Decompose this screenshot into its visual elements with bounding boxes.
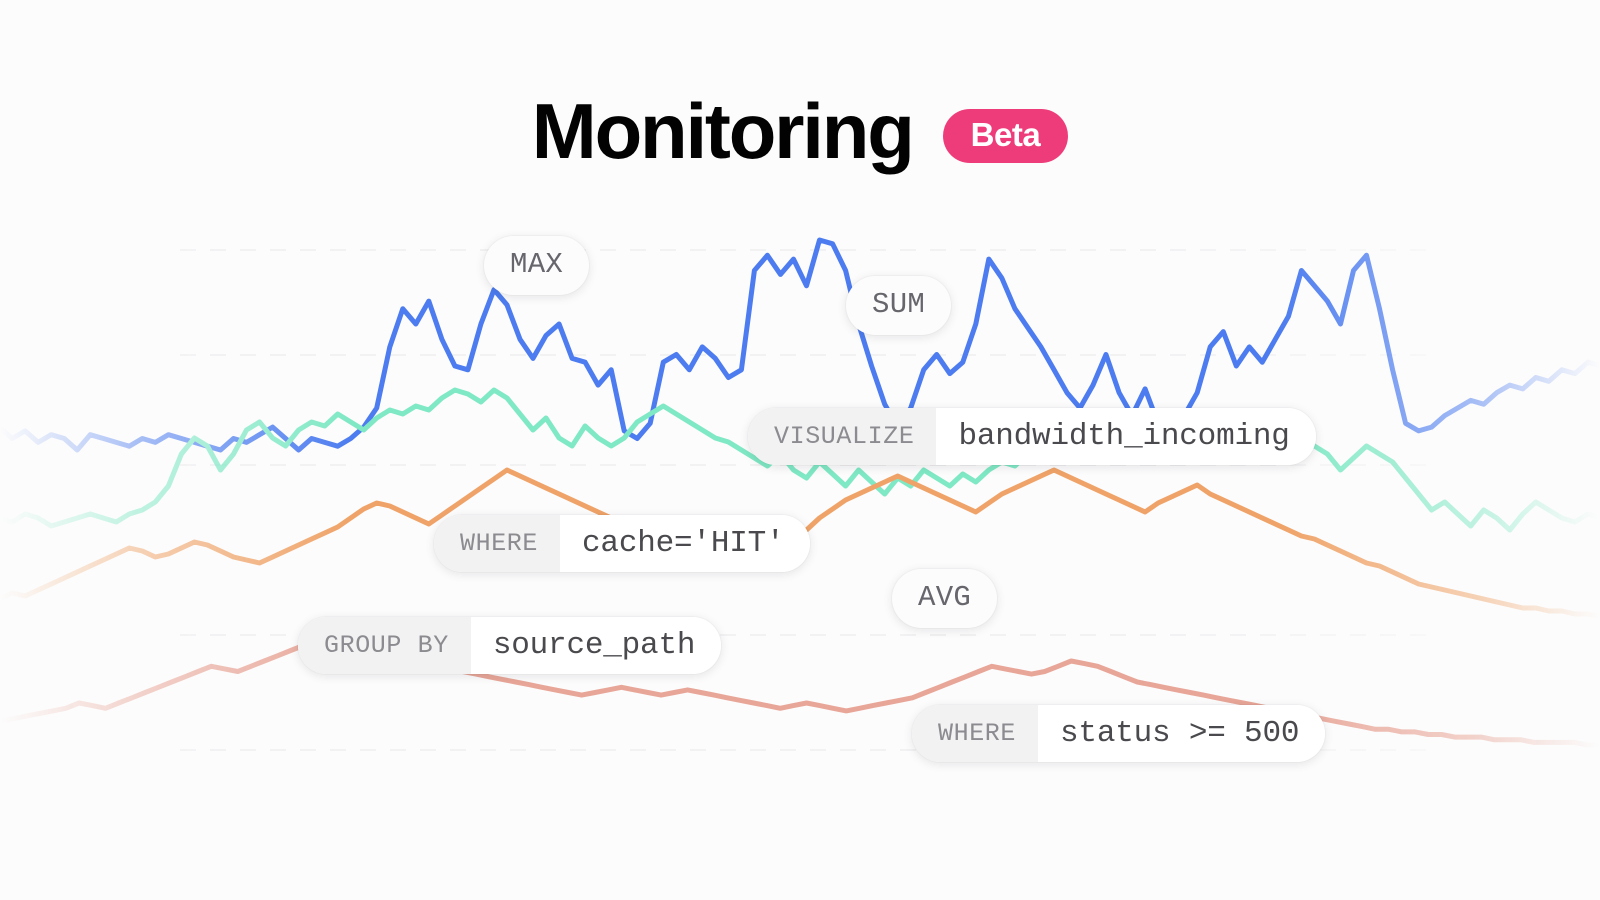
pill-value[interactable]: source_path [471, 617, 721, 674]
pill-keyword: MAX [484, 236, 589, 295]
pill-aggregate-avg[interactable]: AVG [892, 569, 997, 628]
chart-series-group [0, 240, 1600, 745]
pill-keyword: SUM [846, 276, 951, 335]
pill-keyword: WHERE [434, 515, 560, 572]
chart-series-line [0, 640, 1600, 745]
monitoring-hero: Monitoring Beta MAX SUM VISUALIZE bandwi… [0, 0, 1600, 900]
pill-value[interactable]: cache='HIT' [560, 515, 810, 572]
metrics-chart [0, 200, 1600, 820]
pill-visualize[interactable]: VISUALIZE bandwidth_incoming [748, 408, 1316, 465]
pill-value[interactable]: status >= 500 [1038, 705, 1325, 762]
pill-group-by[interactable]: GROUP BY source_path [298, 617, 721, 674]
page-title: Monitoring [532, 92, 913, 170]
pill-keyword: GROUP BY [298, 617, 471, 674]
chart-canvas [0, 200, 1600, 820]
pill-where-cache[interactable]: WHERE cache='HIT' [434, 515, 810, 572]
pill-value[interactable]: bandwidth_incoming [936, 408, 1315, 465]
chart-gridlines [180, 250, 1440, 750]
page-header: Monitoring Beta [0, 92, 1600, 170]
pill-keyword: VISUALIZE [748, 408, 936, 465]
pill-aggregate-sum[interactable]: SUM [846, 276, 951, 335]
pill-keyword: AVG [892, 569, 997, 628]
status-badge: Beta [943, 109, 1069, 163]
pill-keyword: WHERE [912, 705, 1038, 762]
pill-where-status[interactable]: WHERE status >= 500 [912, 705, 1325, 762]
pill-aggregate-max[interactable]: MAX [484, 236, 589, 295]
